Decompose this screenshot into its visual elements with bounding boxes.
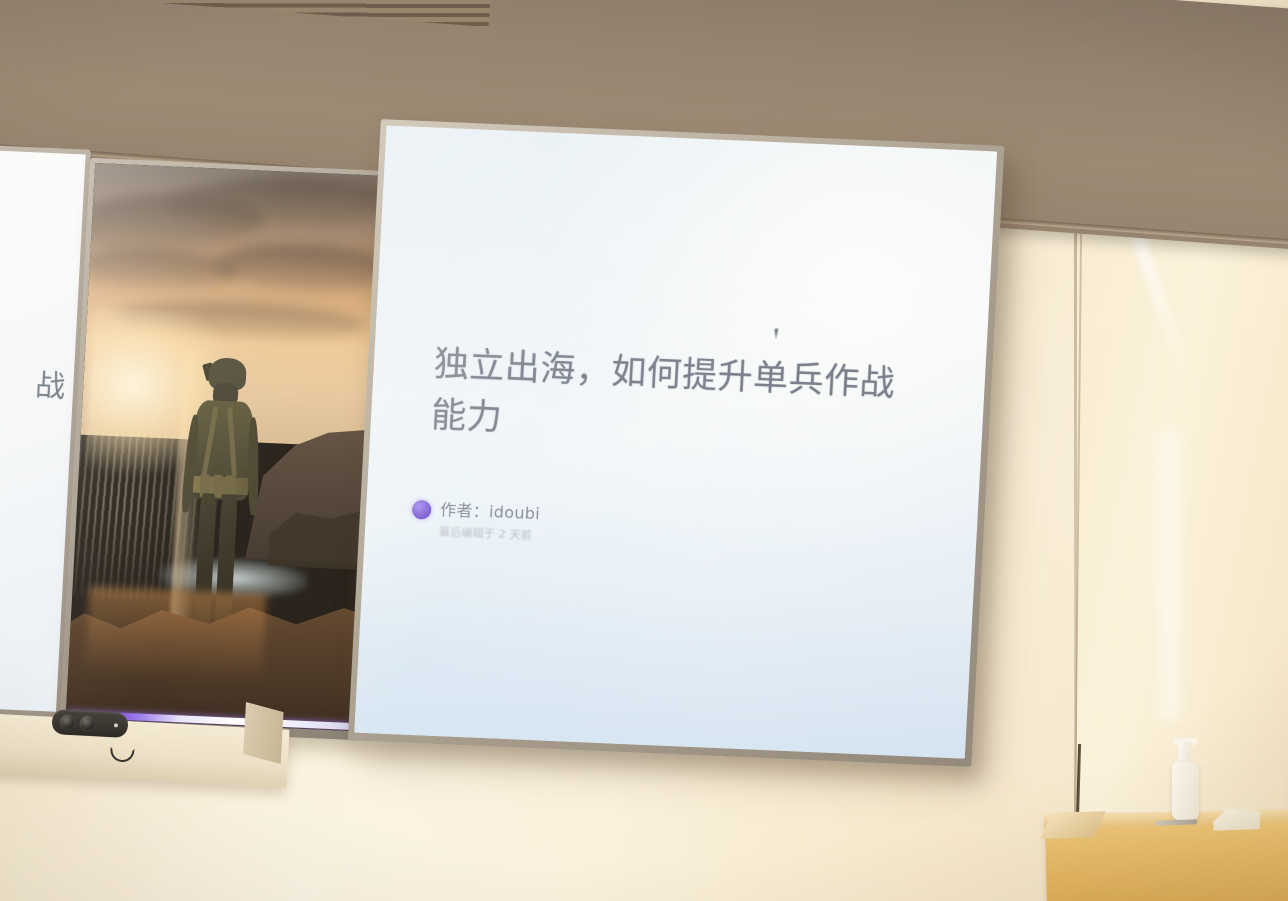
avatar [412, 500, 432, 520]
author-row: 作者：idoubi 最后编辑于 2 天前 [411, 495, 541, 543]
presentation-slide: 独立出海，如何提升单兵作战 能力 作者：idoubi 最后编辑于 2 天前 [354, 125, 997, 758]
cliff-highlight [85, 586, 266, 683]
display-main[interactable]: 独立出海，如何提升单兵作战 能力 作者：idoubi 最后编辑于 2 天前 [348, 119, 1005, 767]
white-bottle [1172, 762, 1199, 820]
slide-title-line-2: 能力 [430, 396, 503, 439]
main-screen: 独立出海，如何提升单兵作战 能力 作者：idoubi 最后编辑于 2 天前 [354, 125, 997, 758]
far-left-screen-text: 战 [34, 361, 66, 406]
wall-vertical-glow [1150, 430, 1190, 720]
author-text-block: 作者：idoubi 最后编辑于 2 天前 [439, 496, 541, 543]
conference-camera-icon[interactable] [51, 709, 128, 738]
room-photo-scene: 战 [0, 0, 1288, 901]
author-name: 作者：idoubi [440, 496, 541, 524]
camera-lens-left [60, 714, 76, 730]
display-left[interactable] [60, 158, 385, 740]
left-screen [66, 163, 380, 731]
mouse-cursor-icon [774, 328, 782, 339]
display-wall-group: 战 [0, 88, 1058, 805]
wall-shelf-side-face [243, 702, 283, 764]
soldier-arm-right [248, 417, 258, 515]
camera-lens-right [80, 715, 96, 731]
camera-status-led [114, 723, 118, 727]
soldier-artwork [66, 163, 380, 731]
